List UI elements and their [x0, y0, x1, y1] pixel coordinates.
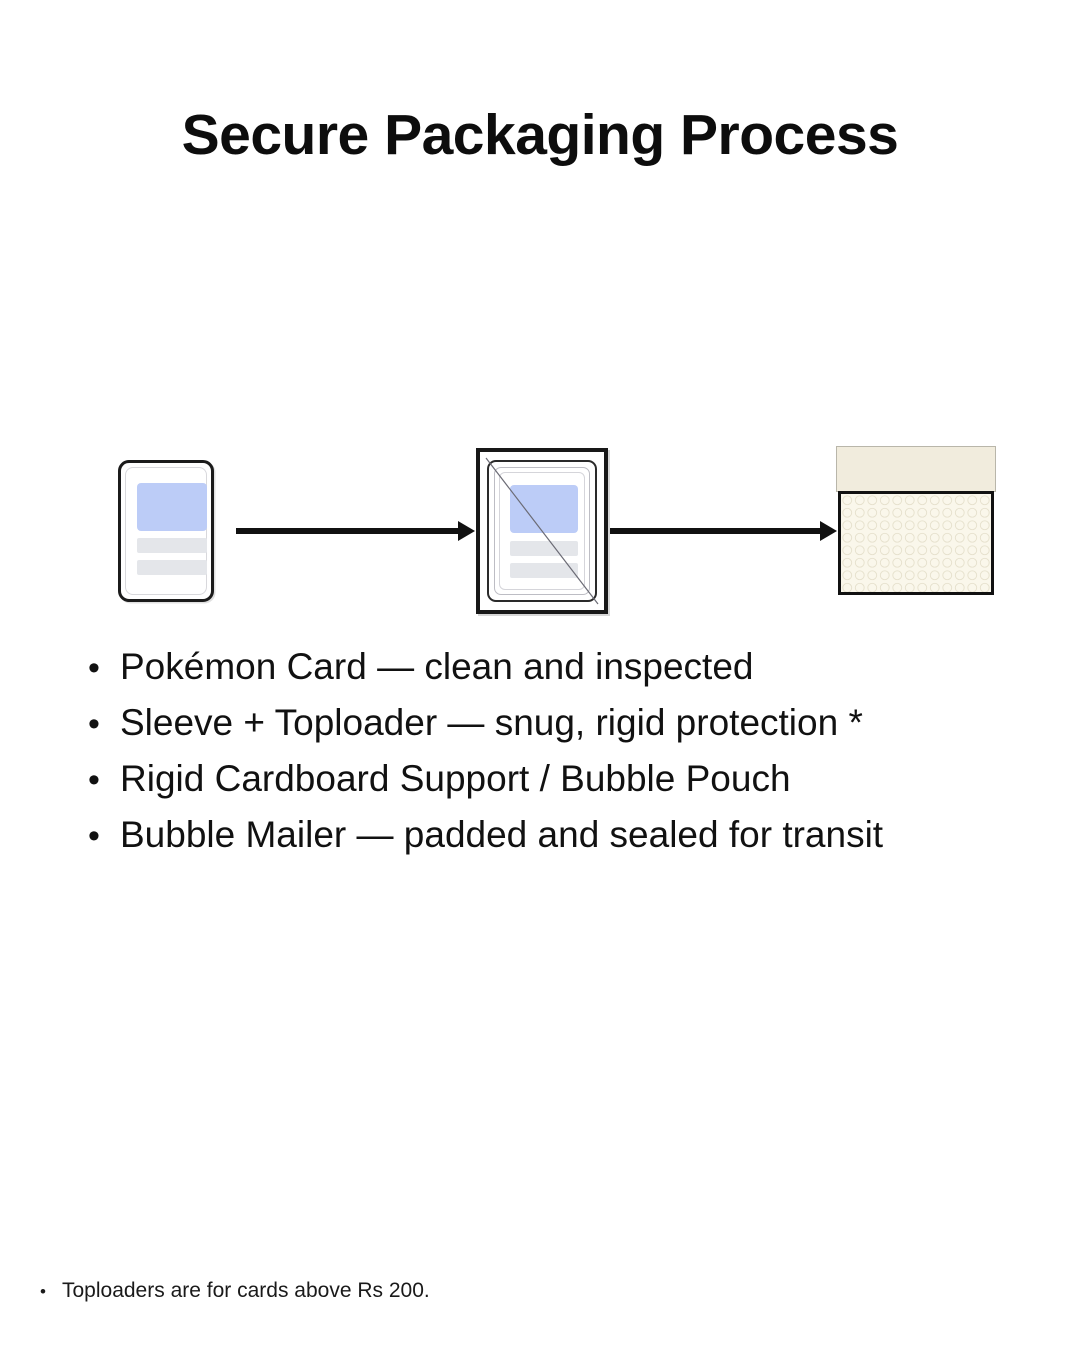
arrow-head — [458, 521, 475, 541]
list-item: • Sleeve + Toploader — snug, rigid prote… — [88, 704, 1048, 760]
toploader-outline-icon — [476, 448, 608, 614]
stage-bubble-mailer — [836, 446, 996, 598]
footnote-label: Toploaders are for cards above Rs 200. — [62, 1280, 430, 1301]
bullet-marker: • — [88, 651, 120, 685]
page-title: Secure Packaging Process — [0, 104, 1080, 168]
mailer-flap-icon — [836, 446, 996, 492]
toploader-inner-border-icon — [487, 460, 597, 602]
card-inner-border-icon — [125, 467, 207, 595]
card-outline-icon — [499, 472, 585, 590]
card-artwork-icon — [510, 485, 578, 533]
bullet-marker: • — [88, 819, 120, 853]
arrow-right-icon-1 — [236, 519, 476, 543]
footnote: • Toploaders are for cards above Rs 200. — [40, 1280, 430, 1301]
list-item-label: Bubble Mailer — padded and sealed for tr… — [120, 816, 883, 853]
arrow-shaft — [610, 528, 822, 534]
bullet-marker: • — [88, 763, 120, 797]
card-text-line-2-icon — [137, 560, 207, 575]
packaging-process-diagram — [0, 430, 1080, 620]
arrow-right-icon-2 — [610, 519, 838, 543]
card-artwork-icon — [137, 483, 207, 531]
list-item: • Bubble Mailer — padded and sealed for … — [88, 816, 1048, 872]
list-item-label: Sleeve + Toploader — snug, rigid protect… — [120, 704, 863, 741]
footnote-bullet-marker: • — [40, 1283, 62, 1300]
arrow-shaft — [236, 528, 460, 534]
sleeve-outline-icon — [494, 467, 590, 595]
list-item: • Pokémon Card — clean and inspected — [88, 648, 1048, 704]
card-text-line-1-icon — [510, 541, 578, 556]
list-item-label: Rigid Cardboard Support / Bubble Pouch — [120, 760, 791, 797]
bubble-texture-icon — [841, 494, 991, 594]
list-item-label: Pokémon Card — clean and inspected — [120, 648, 753, 685]
packaging-steps-list: • Pokémon Card — clean and inspected • S… — [88, 648, 1048, 872]
card-outline-icon — [118, 460, 214, 602]
arrow-head — [820, 521, 837, 541]
stage-sleeve-toploader — [476, 448, 608, 614]
mailer-body-icon — [838, 491, 994, 595]
bullet-marker: • — [88, 707, 120, 741]
list-item: • Rigid Cardboard Support / Bubble Pouch — [88, 760, 1048, 816]
stage-pokemon-card — [118, 460, 214, 602]
card-text-line-2-icon — [510, 563, 578, 578]
card-text-line-1-icon — [137, 538, 207, 553]
